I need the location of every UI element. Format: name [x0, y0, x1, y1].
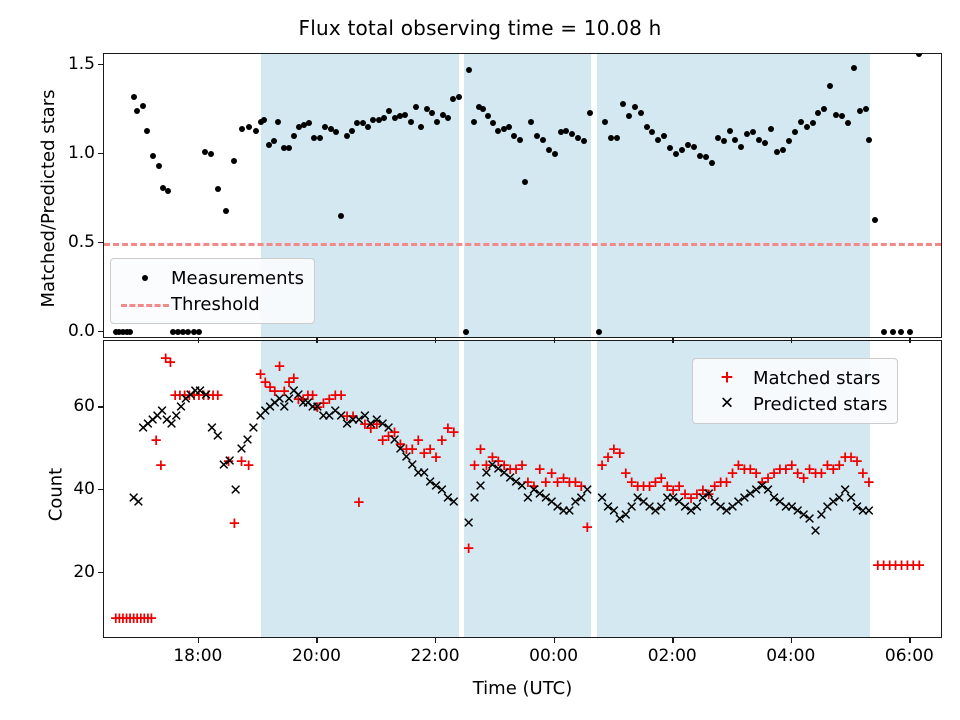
predicted-star-marker: ✕: [462, 516, 476, 530]
legend-label-matched-stars: Matched stars: [753, 368, 880, 389]
data-point: [381, 115, 387, 121]
x-tick-top: [435, 338, 436, 343]
data-point: [506, 124, 512, 130]
y-tick-label-count: 60: [55, 396, 95, 416]
data-point: [144, 128, 150, 134]
data-point: [638, 110, 644, 116]
data-point: [602, 119, 608, 125]
data-point: [866, 137, 872, 143]
data-point: [644, 124, 650, 130]
data-point: [196, 329, 202, 335]
data-point: [768, 126, 774, 132]
data-point: [317, 135, 323, 141]
figure-title: Flux total observing time = 10.08 h: [0, 16, 960, 40]
data-point: [881, 329, 887, 335]
matched-star-marker: +: [613, 446, 627, 460]
data-point: [456, 94, 462, 100]
data-point: [150, 153, 156, 159]
observing-span-2: [464, 54, 591, 337]
x-tick-top: [909, 338, 910, 343]
matched-star-marker: +: [334, 388, 348, 402]
cross-marker-icon: ✕: [701, 391, 753, 417]
x-tick-top: [791, 338, 792, 343]
predicted-star-marker: ✕: [447, 495, 461, 509]
predicted-star-marker: ✕: [199, 388, 213, 402]
data-point: [691, 144, 697, 150]
matched-star-marker: +: [149, 433, 163, 447]
data-point: [434, 119, 440, 125]
predicted-star-marker: ✕: [229, 483, 243, 497]
data-point: [291, 133, 297, 139]
data-point: [131, 94, 137, 100]
data-point: [275, 119, 281, 125]
y-tick-ratio: [98, 242, 103, 243]
data-point: [614, 135, 620, 141]
legend-label-threshold: Threshold: [171, 294, 260, 315]
predicted-star-marker: ✕: [211, 429, 225, 443]
data-point: [890, 329, 896, 335]
predicted-star-marker: ✕: [862, 504, 876, 518]
matched-star-marker: +: [242, 458, 256, 472]
data-point: [916, 53, 922, 57]
data-point: [463, 329, 469, 335]
data-point: [365, 124, 371, 130]
data-point: [349, 128, 355, 134]
data-point: [408, 119, 414, 125]
x-tick-top: [554, 338, 555, 343]
matched-star-marker: +: [580, 520, 594, 534]
x-tick-bottom: [672, 638, 673, 643]
legend-row-matched-stars[interactable]: + Matched stars: [701, 365, 887, 391]
threshold-line: [104, 243, 941, 246]
matched-star-marker: +: [429, 450, 443, 464]
y-tick-label-ratio: 0.0: [45, 321, 95, 341]
x-tick-bottom: [554, 638, 555, 643]
x-tick-label: 20:00: [292, 646, 341, 666]
data-point: [344, 133, 350, 139]
matched-star-marker: +: [447, 425, 461, 439]
legend-row-threshold[interactable]: Threshold: [119, 291, 304, 317]
data-point: [596, 329, 602, 335]
data-point: [271, 138, 277, 144]
data-point: [697, 153, 703, 159]
y-tick-label-ratio: 0.5: [45, 232, 95, 252]
matched-star-marker: +: [273, 359, 287, 373]
data-point: [872, 217, 878, 223]
x-tick-label: 02:00: [648, 646, 697, 666]
data-point: [715, 135, 721, 141]
data-point: [540, 137, 546, 143]
data-point: [528, 119, 534, 125]
flux-observing-figure: Flux total observing time = 10.08 h Matc…: [0, 0, 960, 720]
y-tick-label-ratio: 1.0: [45, 143, 95, 163]
data-point: [127, 329, 133, 335]
x-tick-bottom: [198, 638, 199, 643]
y-tick-ratio: [98, 64, 103, 65]
matched-star-marker: +: [144, 611, 158, 625]
x-tick-label: 04:00: [766, 646, 815, 666]
data-point: [673, 151, 679, 157]
dashed-line-icon: [119, 291, 171, 317]
matched-star-marker: +: [462, 541, 476, 555]
data-point: [253, 128, 259, 134]
data-point: [215, 186, 221, 192]
dot-marker-icon: [119, 265, 171, 291]
x-tick-bottom: [435, 638, 436, 643]
data-point: [445, 115, 451, 121]
y-tick-count: [98, 406, 103, 407]
predicted-star-marker: ✕: [580, 483, 594, 497]
matched-star-marker: +: [227, 516, 241, 530]
data-point: [721, 138, 727, 144]
data-point: [727, 128, 733, 134]
data-point: [140, 103, 146, 109]
matched-star-marker: +: [163, 355, 177, 369]
ratio-y-axis-label: Matched/Predicted stars: [38, 56, 59, 341]
predicted-star-marker: ✕: [809, 524, 823, 538]
count-legend: + Matched stars ✕ Predicted stars: [692, 358, 898, 424]
legend-label-predicted-stars: Predicted stars: [753, 394, 887, 415]
x-tick-bottom: [791, 638, 792, 643]
y-tick-ratio: [98, 331, 103, 332]
legend-row-predicted-stars[interactable]: ✕ Predicted stars: [701, 391, 887, 417]
matched-star-marker: +: [912, 558, 926, 572]
y-tick-ratio: [98, 153, 103, 154]
data-point: [804, 124, 810, 130]
y-tick-count: [98, 572, 103, 573]
data-point: [471, 119, 477, 125]
x-tick-label: 06:00: [885, 646, 934, 666]
data-point: [208, 151, 214, 157]
y-tick-label-ratio: 1.5: [45, 54, 95, 74]
y-tick-label-count: 20: [55, 562, 95, 582]
data-point: [231, 158, 237, 164]
data-point: [246, 124, 252, 130]
data-point: [534, 133, 540, 139]
data-point: [239, 126, 245, 132]
matched-star-marker: +: [154, 458, 168, 472]
data-point: [798, 119, 804, 125]
x-tick-top: [316, 338, 317, 343]
data-point: [223, 208, 229, 214]
ratio-legend: Measurements Threshold: [110, 258, 315, 324]
x-tick-bottom: [316, 638, 317, 643]
predicted-star-marker: ✕: [131, 495, 145, 509]
data-point: [402, 112, 408, 118]
data-point: [587, 110, 593, 116]
data-point: [429, 110, 435, 116]
matched-star-marker: +: [352, 495, 366, 509]
data-point: [552, 151, 558, 157]
data-point: [546, 147, 552, 153]
x-tick-label: 18:00: [173, 646, 222, 666]
legend-row-measurements[interactable]: Measurements: [119, 265, 304, 291]
plus-marker-icon: +: [701, 365, 753, 391]
data-point: [165, 188, 171, 194]
data-point: [907, 329, 913, 335]
x-tick-top: [672, 338, 673, 343]
y-tick-count: [98, 489, 103, 490]
data-point: [709, 160, 715, 166]
x-tick-top: [198, 338, 199, 343]
legend-label-measurements: Measurements: [171, 268, 304, 289]
data-point: [620, 101, 626, 107]
data-point: [202, 149, 208, 155]
data-point: [261, 117, 267, 123]
x-tick-bottom: [909, 638, 910, 643]
x-tick-label: 22:00: [411, 646, 460, 666]
data-point: [156, 163, 162, 169]
matched-star-marker: +: [862, 475, 876, 489]
data-point: [898, 329, 904, 335]
observing-span-3: [597, 54, 870, 337]
x-tick-label: 00:00: [529, 646, 578, 666]
y-tick-label-count: 40: [55, 479, 95, 499]
x-axis-label: Time (UTC): [103, 678, 942, 699]
data-point: [517, 137, 523, 143]
data-point: [134, 108, 140, 114]
